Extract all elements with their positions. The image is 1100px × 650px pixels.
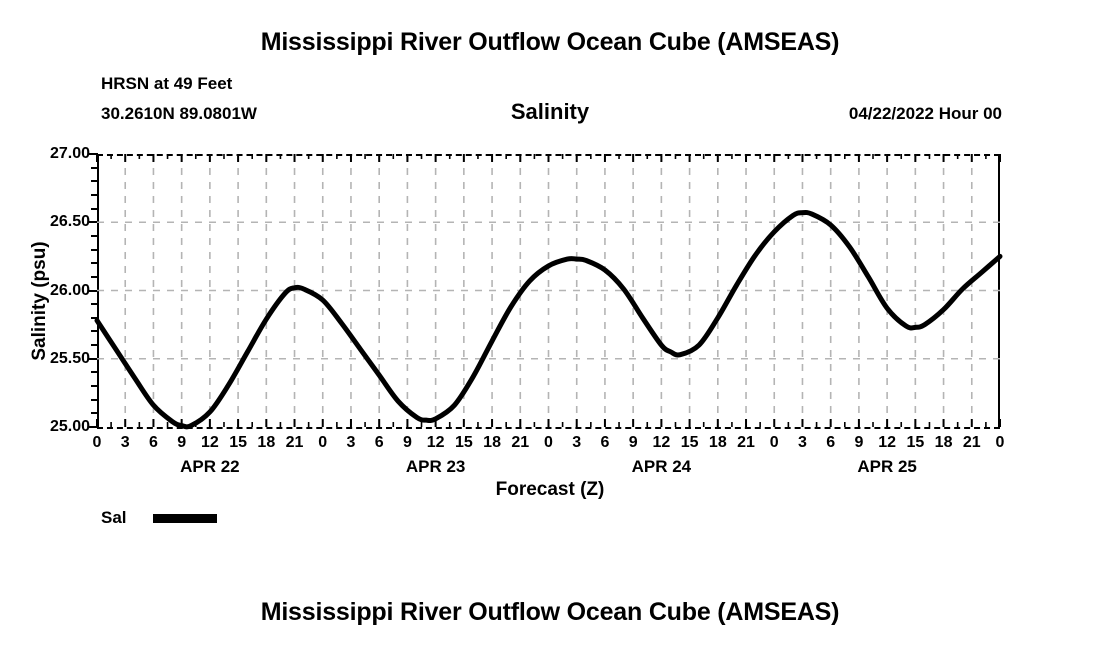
page-title: Mississippi River Outflow Ocean Cube (AM… — [0, 28, 1100, 57]
x-tick-label: 0 — [996, 434, 1005, 452]
x-tick-label: 12 — [652, 434, 670, 452]
x-axis-title: Forecast (Z) — [0, 479, 1100, 501]
chart-canvas — [97, 154, 1000, 427]
x-tick-label: 9 — [177, 434, 186, 452]
x-tick-label: 0 — [544, 434, 553, 452]
day-label: APR 22 — [180, 457, 240, 477]
x-tick-label: 0 — [318, 434, 327, 452]
x-tick-label: 9 — [854, 434, 863, 452]
x-tick-label: 3 — [572, 434, 581, 452]
x-tick-label: 21 — [963, 434, 981, 452]
run-time-label: 04/22/2022 Hour 00 — [849, 104, 1002, 124]
x-tick-label: 21 — [511, 434, 529, 452]
x-tick-label: 15 — [455, 434, 473, 452]
day-label: APR 24 — [632, 457, 692, 477]
x-tick-label: 6 — [149, 434, 158, 452]
legend: Sal — [101, 508, 217, 528]
x-tick-label: 3 — [121, 434, 130, 452]
axis-bottom — [97, 427, 1000, 429]
x-tick-label: 6 — [826, 434, 835, 452]
y-tick-label: 25.50 — [50, 350, 90, 368]
footer-title: Mississippi River Outflow Ocean Cube (AM… — [0, 598, 1100, 627]
x-tick-label: 21 — [737, 434, 755, 452]
x-tick-label: 3 — [798, 434, 807, 452]
y-tick-label: 27.00 — [50, 145, 90, 163]
x-tick-label: 12 — [427, 434, 445, 452]
x-tick-label: 18 — [257, 434, 275, 452]
plot-area — [97, 154, 1000, 427]
y-tick-label: 26.50 — [50, 213, 90, 231]
legend-swatch-sal — [153, 514, 217, 523]
legend-label-sal: Sal — [101, 508, 127, 528]
x-tick-label: 3 — [347, 434, 356, 452]
x-tick-label: 18 — [709, 434, 727, 452]
station-label: HRSN at 49 Feet — [101, 74, 232, 94]
x-tick-label: 0 — [93, 434, 102, 452]
chart-page: Mississippi River Outflow Ocean Cube (AM… — [0, 0, 1100, 650]
x-tick-label: 18 — [935, 434, 953, 452]
y-tick-label: 25.00 — [50, 418, 90, 436]
x-tick-label: 6 — [375, 434, 384, 452]
x-tick-label: 21 — [286, 434, 304, 452]
x-tick-label: 9 — [403, 434, 412, 452]
y-axis-title: Salinity (psu) — [29, 171, 51, 431]
x-tick-label: 18 — [483, 434, 501, 452]
x-tick-label: 12 — [201, 434, 219, 452]
x-tick-label: 0 — [770, 434, 779, 452]
day-label: APR 25 — [857, 457, 917, 477]
x-tick-label: 9 — [629, 434, 638, 452]
day-label: APR 23 — [406, 457, 466, 477]
x-tick-label: 15 — [229, 434, 247, 452]
y-tick-label: 26.00 — [50, 282, 90, 300]
x-tick-label: 15 — [906, 434, 924, 452]
x-tick-label: 6 — [600, 434, 609, 452]
x-tick-label: 15 — [681, 434, 699, 452]
x-tick-label: 12 — [878, 434, 896, 452]
